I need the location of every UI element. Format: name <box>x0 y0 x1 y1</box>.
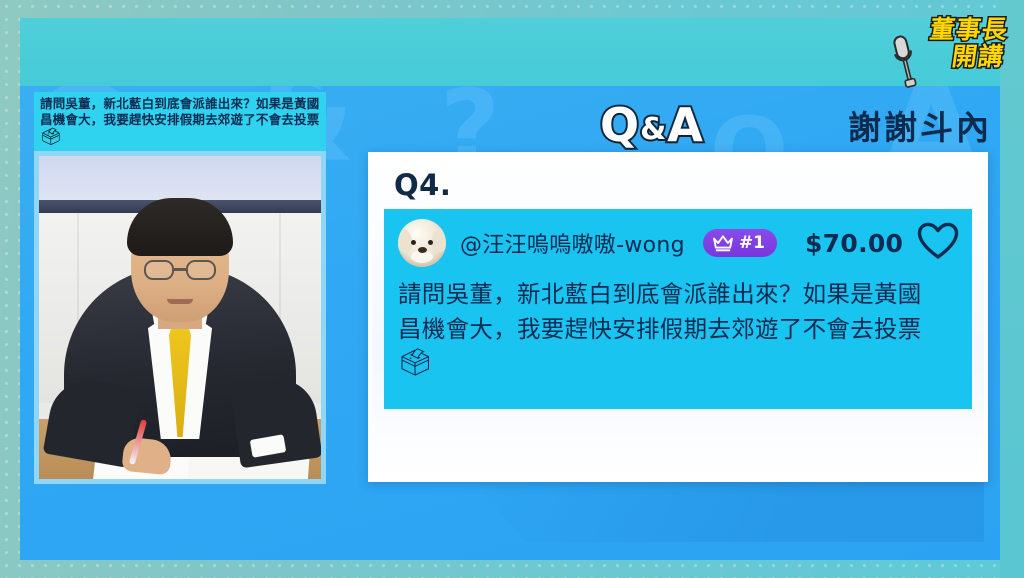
username-label[interactable]: @汪汪嗚嗚嗷嗷-wong <box>460 227 685 259</box>
qa-ampersand: & <box>640 112 667 147</box>
video-player[interactable] <box>34 151 326 484</box>
caption-line-2: 昌機會大，我要趕快安排假期去郊遊了不會去投票 <box>40 112 320 128</box>
thanks-label: 謝謝斗內 <box>848 101 992 149</box>
superchat-message: 請問吳董，新北藍白到底會派誰出來？如果是黃國 昌機會大，我要趕快安排假期去郊遊了… <box>398 277 958 379</box>
rank-badge: #1 <box>703 229 777 257</box>
logo-line-2: 開講 <box>924 43 1006 70</box>
heart-outline-icon[interactable] <box>917 222 959 265</box>
page-title: Q&A <box>600 98 704 152</box>
rank-label: #1 <box>739 233 765 253</box>
video-scene <box>39 156 321 479</box>
qa-letter-q: Q <box>600 98 640 152</box>
top-turquoise-band <box>20 18 1004 86</box>
message-line-2: 昌機會大，我要趕快安排假期去郊遊了不會去投票 <box>398 312 958 347</box>
ballot-box-icon: 🗳 <box>398 347 958 379</box>
dog-avatar <box>398 219 446 267</box>
microphone-icon <box>888 32 922 90</box>
donation-amount: $70.00 <box>805 229 903 258</box>
logo-text: 董事長 開講 <box>924 16 1010 70</box>
question-card: Q4. @汪汪嗚嗚嗷嗷-wong #1 $70.00 <box>368 152 988 482</box>
bottom-diagonal-accent <box>464 472 984 542</box>
caption-overlay: 請問吳董，新北藍白到底會派誰出來？如果是黃國 昌機會大，我要趕快安排假期去郊遊了… <box>34 92 326 154</box>
show-logo: 董事長 開講 <box>870 16 1006 92</box>
superchat-header-row: @汪汪嗚嗚嗷嗷-wong #1 $70.00 <box>398 217 958 269</box>
crown-icon <box>712 235 734 252</box>
superchat-panel: @汪汪嗚嗚嗷嗷-wong #1 $70.00 請問吳董，新北藍白到底會派誰 <box>384 209 972 409</box>
logo-line-1: 董事長 <box>928 16 1010 43</box>
message-line-1: 請問吳董，新北藍白到底會派誰出來？如果是黃國 <box>398 277 958 312</box>
question-number-label: Q4. <box>394 168 972 202</box>
ballot-box-icon: 🗳 <box>40 128 320 146</box>
caption-line-1: 請問吳董，新北藍白到底會派誰出來？如果是黃國 <box>40 96 320 112</box>
qa-letter-a: A <box>667 98 704 152</box>
screen-root: Q A & Q A ? Q & A Q 董事長 開講 Q&A 謝謝斗內 <box>0 0 1024 578</box>
